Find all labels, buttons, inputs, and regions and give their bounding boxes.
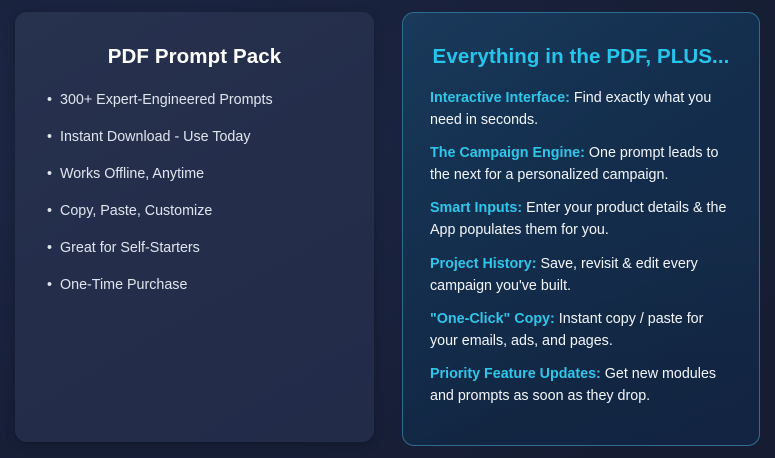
pdf-prompt-pack-card: PDF Prompt Pack • 300+ Expert-Engineered… bbox=[15, 12, 374, 442]
list-item-label: Copy, Paste, Customize bbox=[60, 203, 212, 219]
list-item: • Great for Self-Starters bbox=[47, 239, 374, 258]
list-item: Smart Inputs: Enter your product details… bbox=[430, 198, 729, 242]
bullet-icon: • bbox=[47, 202, 52, 221]
feature-label: "One-Click" Copy: bbox=[430, 311, 555, 327]
list-item: The Campaign Engine: One prompt leads to… bbox=[430, 143, 729, 187]
list-item: Project History: Save, revisit & edit ev… bbox=[430, 254, 729, 298]
feature-label: The Campaign Engine: bbox=[430, 145, 585, 161]
list-item: • One-Time Purchase bbox=[47, 276, 374, 295]
list-item-label: Works Offline, Anytime bbox=[60, 166, 204, 182]
list-item: Priority Feature Updates: Get new module… bbox=[430, 364, 729, 408]
app-upgrade-feature-list: Interactive Interface: Find exactly what… bbox=[403, 69, 759, 408]
bullet-icon: • bbox=[47, 128, 52, 147]
app-upgrade-title: Everything in the PDF, PLUS... bbox=[403, 13, 759, 69]
list-item: • Works Offline, Anytime bbox=[47, 165, 374, 184]
feature-label: Interactive Interface: bbox=[430, 90, 570, 106]
list-item-label: Instant Download - Use Today bbox=[60, 129, 250, 145]
bullet-icon: • bbox=[47, 239, 52, 258]
list-item-label: One-Time Purchase bbox=[60, 277, 187, 293]
bullet-icon: • bbox=[47, 91, 52, 110]
list-item-label: 300+ Expert-Engineered Prompts bbox=[60, 92, 273, 108]
app-upgrade-card: Everything in the PDF, PLUS... Interacti… bbox=[402, 12, 760, 446]
feature-label: Smart Inputs: bbox=[430, 200, 522, 216]
list-item-label: Great for Self-Starters bbox=[60, 240, 200, 256]
pdf-prompt-pack-title: PDF Prompt Pack bbox=[15, 12, 374, 69]
pdf-prompt-pack-feature-list: • 300+ Expert-Engineered Prompts • Insta… bbox=[15, 69, 374, 295]
comparison-page: PDF Prompt Pack • 300+ Expert-Engineered… bbox=[0, 0, 775, 458]
list-item: • 300+ Expert-Engineered Prompts bbox=[47, 91, 374, 110]
list-item: Interactive Interface: Find exactly what… bbox=[430, 88, 729, 132]
list-item: • Copy, Paste, Customize bbox=[47, 202, 374, 221]
list-item: "One-Click" Copy: Instant copy / paste f… bbox=[430, 309, 729, 353]
bullet-icon: • bbox=[47, 276, 52, 295]
feature-label: Project History: bbox=[430, 256, 536, 272]
bullet-icon: • bbox=[47, 165, 52, 184]
feature-label: Priority Feature Updates: bbox=[430, 366, 601, 382]
list-item: • Instant Download - Use Today bbox=[47, 128, 374, 147]
